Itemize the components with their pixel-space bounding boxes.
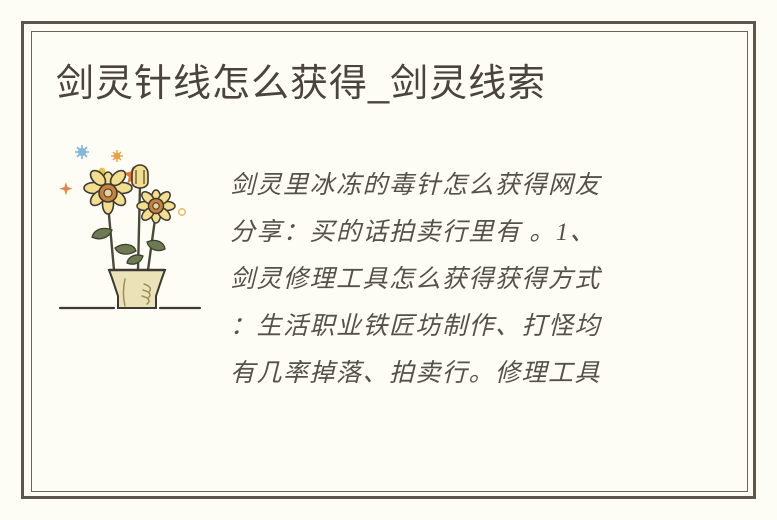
- sunflower-left: [84, 168, 132, 214]
- body-line: 有几率掉落、拍卖行。修理工具: [230, 350, 654, 397]
- ring-sparkle: [179, 209, 185, 215]
- flower-vase: [109, 270, 165, 308]
- body-line: 剑灵修理工具怎么获得获得方式: [230, 256, 654, 303]
- flower-vase-illustration: [52, 138, 212, 313]
- page-root: 剑灵针线怎么获得_剑灵线索: [0, 0, 777, 520]
- page-title: 剑灵针线怎么获得_剑灵线索: [56, 58, 696, 110]
- flower-bud: [132, 165, 148, 188]
- body-line: 分享：买的话拍卖行里有 。1、: [230, 209, 654, 256]
- sunflower-right: [137, 190, 175, 223]
- article-body: 剑灵里冰冻的毒针怎么获得网友 分享：买的话拍卖行里有 。1、 剑灵修理工具怎么获…: [230, 162, 654, 397]
- flower-sparkle: [111, 150, 123, 162]
- body-line: 剑灵里冰冻的毒针怎么获得网友: [230, 162, 654, 209]
- snowflake-sparkle: [75, 145, 89, 159]
- body-line: ：生活职业铁匠坊制作、打怪均: [230, 303, 654, 350]
- cross-sparkle: [59, 182, 72, 195]
